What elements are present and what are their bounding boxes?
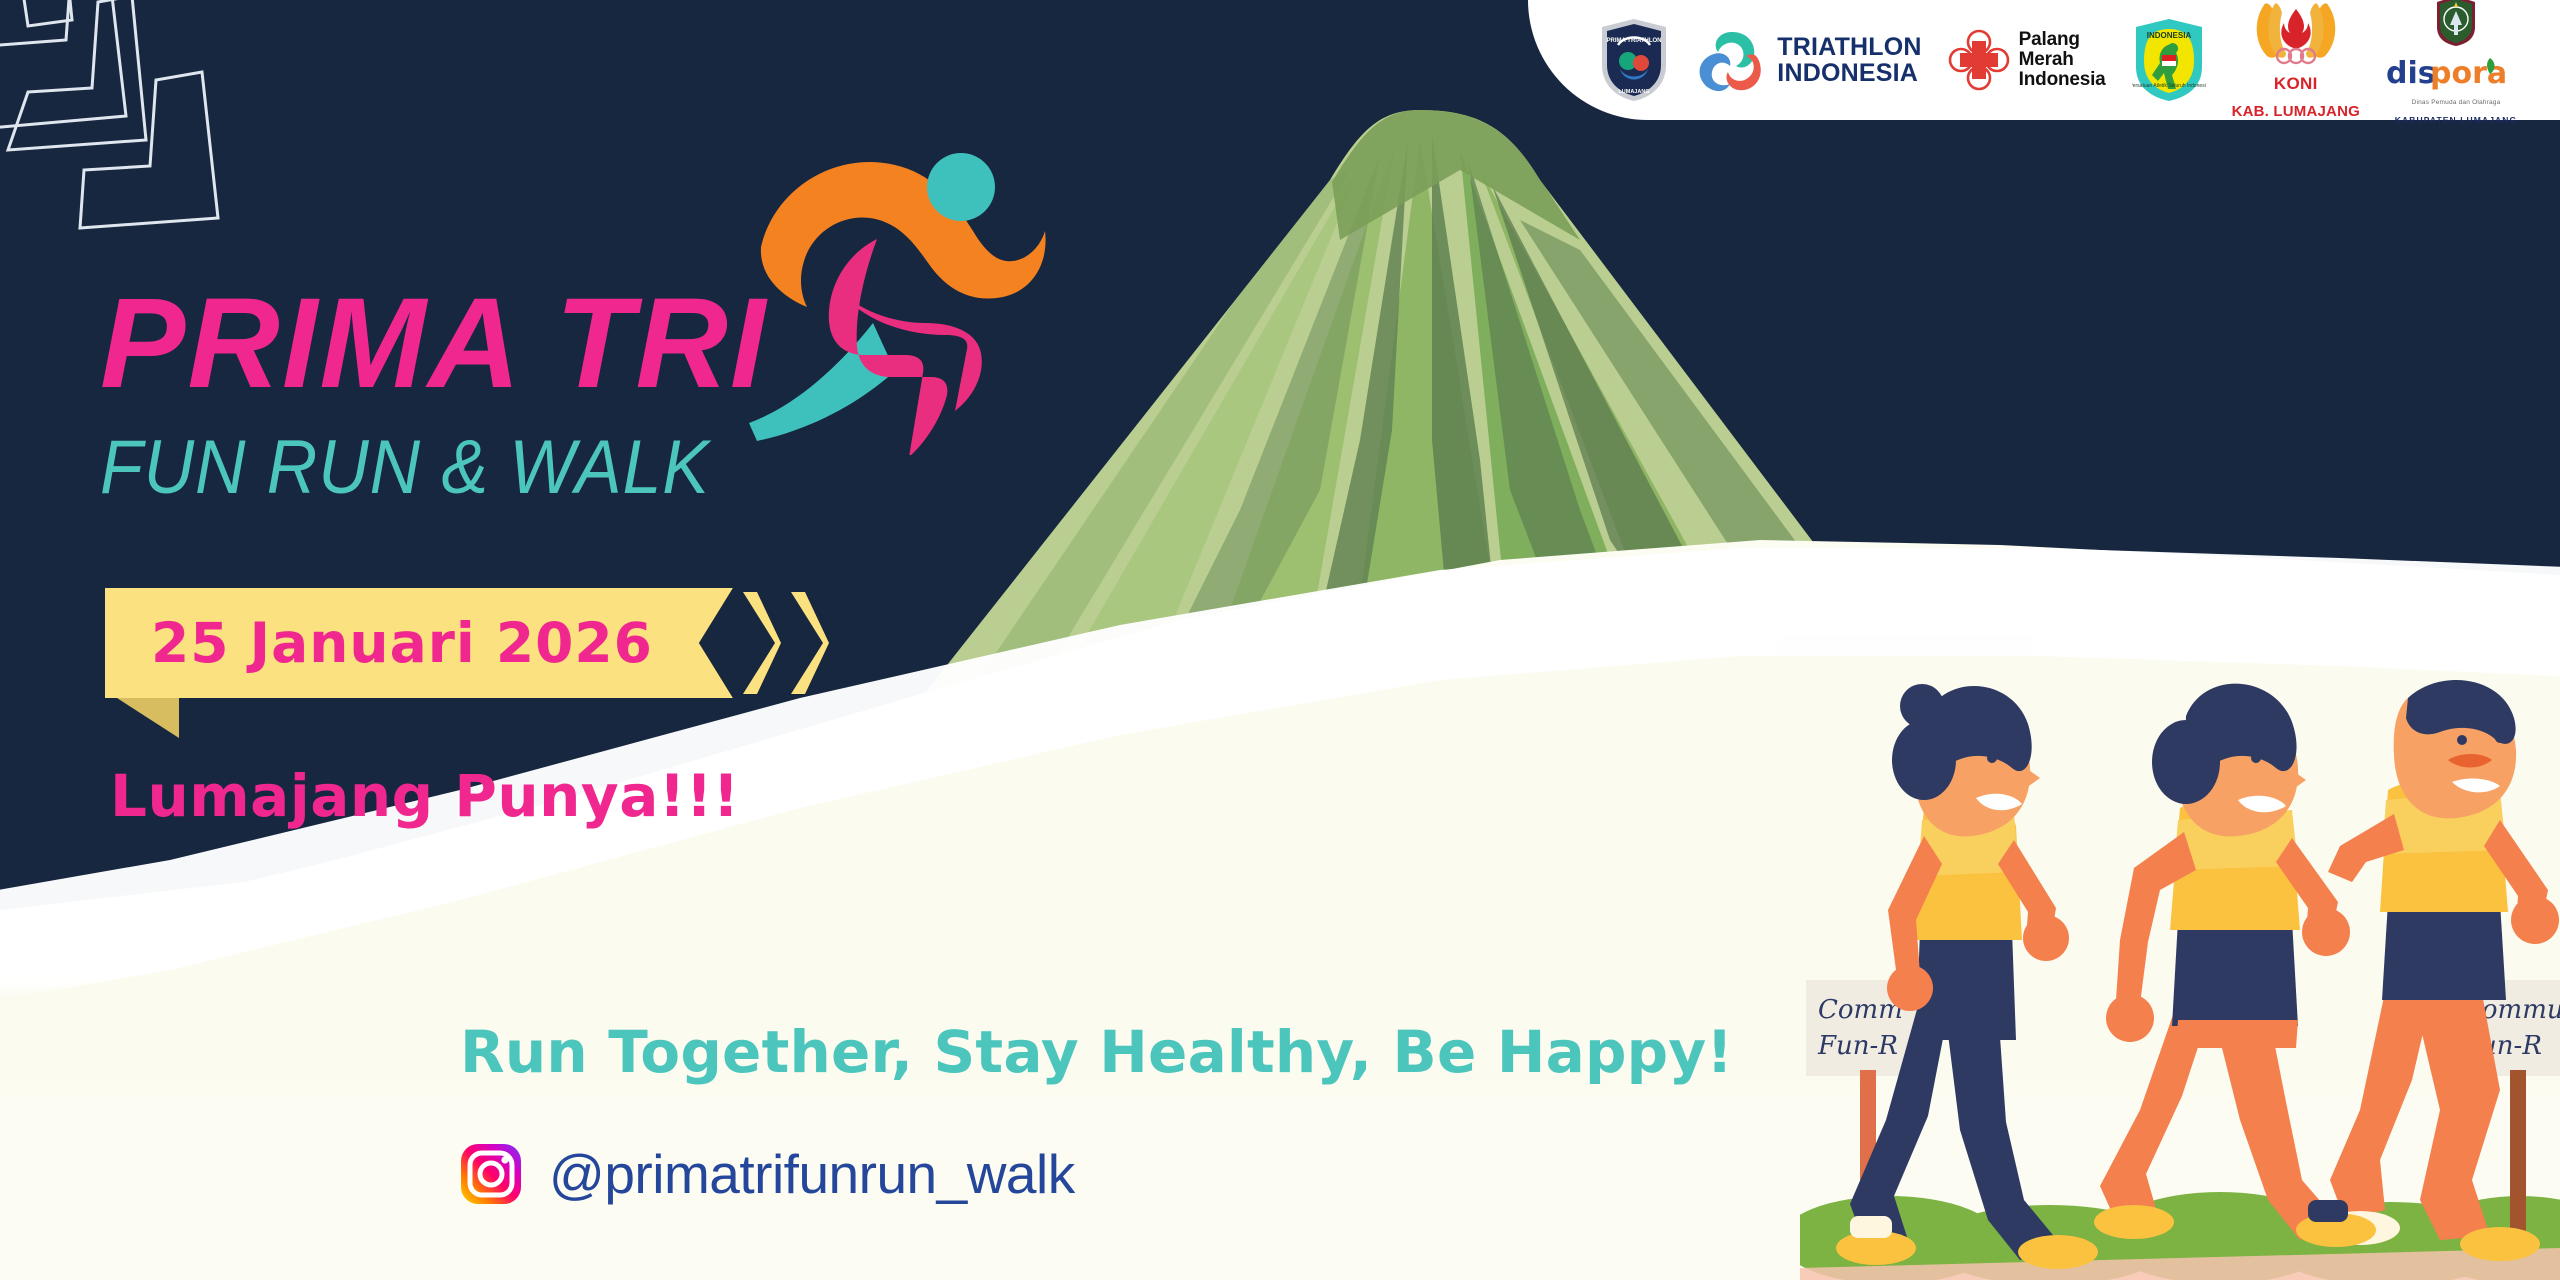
svg-text:dis: dis [2386, 56, 2436, 90]
event-date-badge: 25 Januari 2026 [105, 588, 829, 698]
chevron-right-icon-1 [741, 588, 781, 698]
dispora-crest-icon [2434, 0, 2478, 47]
runner-woman-left [1836, 684, 2098, 1269]
headline-block: PRIMA TRI FUN RUN & WALK [100, 280, 1200, 506]
event-slogan: Lumajang Punya!!! [110, 762, 740, 830]
instagram-handle[interactable]: @primatrifunrun_walk [549, 1142, 1075, 1206]
athletics-badge-icon: INDONESIA Persatuan Atletik Seluruh Indo… [2132, 17, 2206, 103]
runner-woman-middle [2094, 684, 2376, 1247]
date-ribbon-body: 25 Januari 2026 [105, 588, 733, 698]
red-cross-icon [1948, 29, 2010, 91]
sponsor-label-line2: Merah [2019, 50, 2106, 70]
sponsor-prima-triathlon-lumajang: PRIMA TRIATHLON LUMAJANG [1598, 17, 1670, 103]
sponsor-dispora-kabupaten-lumajang: dis pora Dinas Pemuda dan Olahraga KABUP… [2386, 0, 2526, 125]
sponsor-logo-bar: PRIMA TRIATHLON LUMAJANG TRIATHLON INDON… [1528, 0, 2560, 120]
sponsor-label-line2: INDONESIA [1777, 60, 1921, 86]
svg-text:Fun-R: Fun-R [1817, 1031, 1898, 1061]
chevron-decoration-icon [0, 0, 300, 260]
event-date-text: 25 Januari 2026 [151, 611, 653, 675]
sponsor-koni-kab-lumajang: KONI KAB. LUMAJANG [2232, 1, 2360, 120]
koni-wings-flame-icon [2248, 1, 2344, 65]
svg-text:INDONESIA: INDONESIA [2146, 31, 2191, 40]
dispora-wordmark-icon: dis pora [2386, 56, 2526, 90]
chevron-right-icon-2 [789, 588, 829, 698]
sponsor-label-sub: KABUPATEN LUMAJANG [2395, 115, 2517, 125]
sponsor-triathlon-indonesia: TRIATHLON INDONESIA [1696, 24, 1921, 96]
sponsor-label-name: KONI [2274, 74, 2318, 94]
page-title: PRIMA TRI [100, 280, 1200, 408]
instagram-icon[interactable] [460, 1143, 522, 1205]
sponsor-label-sub: KAB. LUMAJANG [2232, 103, 2360, 120]
runners-illustration: Comm Fun-R Commu Fun-R [1800, 640, 2560, 1280]
event-tagline: Run Together, Stay Healthy, Be Happy! [460, 1018, 1733, 1086]
triathlon-swirl-icon [1696, 24, 1768, 96]
svg-text:PRIMA TRIATHLON: PRIMA TRIATHLON [1607, 38, 1662, 44]
event-banner: Comm Fun-R Commu Fun-R [0, 0, 2560, 1280]
svg-text:Persatuan Atletik Seluruh Indo: Persatuan Atletik Seluruh Indonesia [2132, 83, 2206, 89]
page-subtitle: FUN RUN & WALK [100, 430, 1112, 506]
sponsor-label-sub2: Dinas Pemuda dan Olahraga [2412, 99, 2501, 106]
sponsor-palang-merah-indonesia: Palang Merah Indonesia [1948, 29, 2106, 91]
shield-badge-icon: PRIMA TRIATHLON LUMAJANG [1598, 17, 1670, 103]
sponsor-pasi-indonesia: INDONESIA Persatuan Atletik Seluruh Indo… [2132, 17, 2206, 103]
sponsor-label-line3: Indonesia [2019, 70, 2106, 90]
sponsor-label-line1: TRIATHLON [1777, 34, 1921, 60]
sponsor-label-line1: Palang [2019, 30, 2106, 50]
svg-text:LUMAJANG: LUMAJANG [1619, 89, 1650, 95]
svg-text:pora: pora [2430, 56, 2507, 90]
instagram-row[interactable]: @primatrifunrun_walk [460, 1142, 1075, 1206]
